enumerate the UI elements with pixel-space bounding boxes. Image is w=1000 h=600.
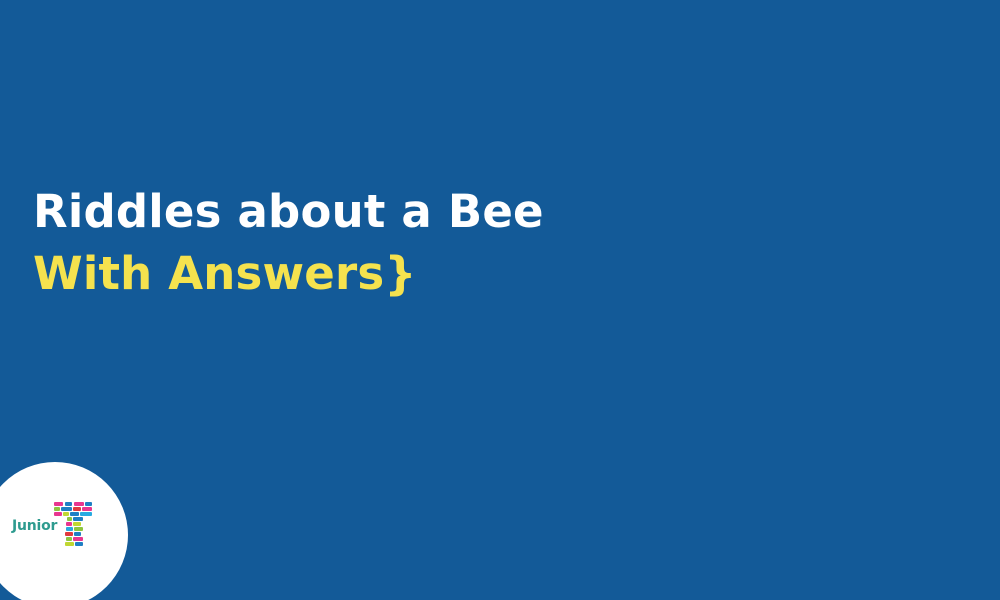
logo-mark-bar: [73, 537, 83, 541]
title-slide: Riddles about a Bee With Answers} Junior: [0, 0, 1000, 600]
headline-block: Riddles about a Bee With Answers}: [33, 181, 793, 305]
headline-line-primary: Riddles about a Bee: [33, 181, 793, 243]
logo-mark-bar: [54, 507, 60, 511]
logo-mark-bar: [75, 542, 83, 546]
headline-line-accent: With Answers}: [33, 243, 793, 305]
logo-mark-bar: [61, 507, 72, 511]
logo-mark-bar: [74, 527, 83, 531]
logo-mark-bar: [73, 507, 81, 511]
logo-mark-bar: [73, 522, 81, 526]
logo-wordmark: Junior: [12, 518, 57, 534]
logo-mark-bar: [66, 527, 73, 531]
logo-mark-bar: [70, 512, 79, 516]
logo-mark-bar: [67, 517, 72, 521]
logo-lockup: Junior: [12, 502, 104, 554]
logo-mark-bar: [82, 507, 92, 511]
logo-mark-bar: [66, 522, 72, 526]
logo-mark-bar: [85, 502, 92, 506]
logo-mark-bar: [54, 512, 62, 516]
logo-mark-bar: [74, 502, 84, 506]
logo-mark-bar: [65, 532, 73, 536]
logo-mark-bar: [54, 502, 63, 506]
logo-mark-bar: [66, 537, 72, 541]
logo-mark-bar: [65, 542, 74, 546]
logo-mark-bar: [73, 517, 83, 521]
logo-mark-bar: [65, 502, 72, 506]
logo-mark-bar: [63, 512, 69, 516]
logo-mark-bar: [80, 512, 92, 516]
junior-pixel-t-mark-icon: [54, 502, 92, 550]
logo-badge: Junior: [0, 462, 128, 600]
logo-mark-bar: [74, 532, 81, 536]
